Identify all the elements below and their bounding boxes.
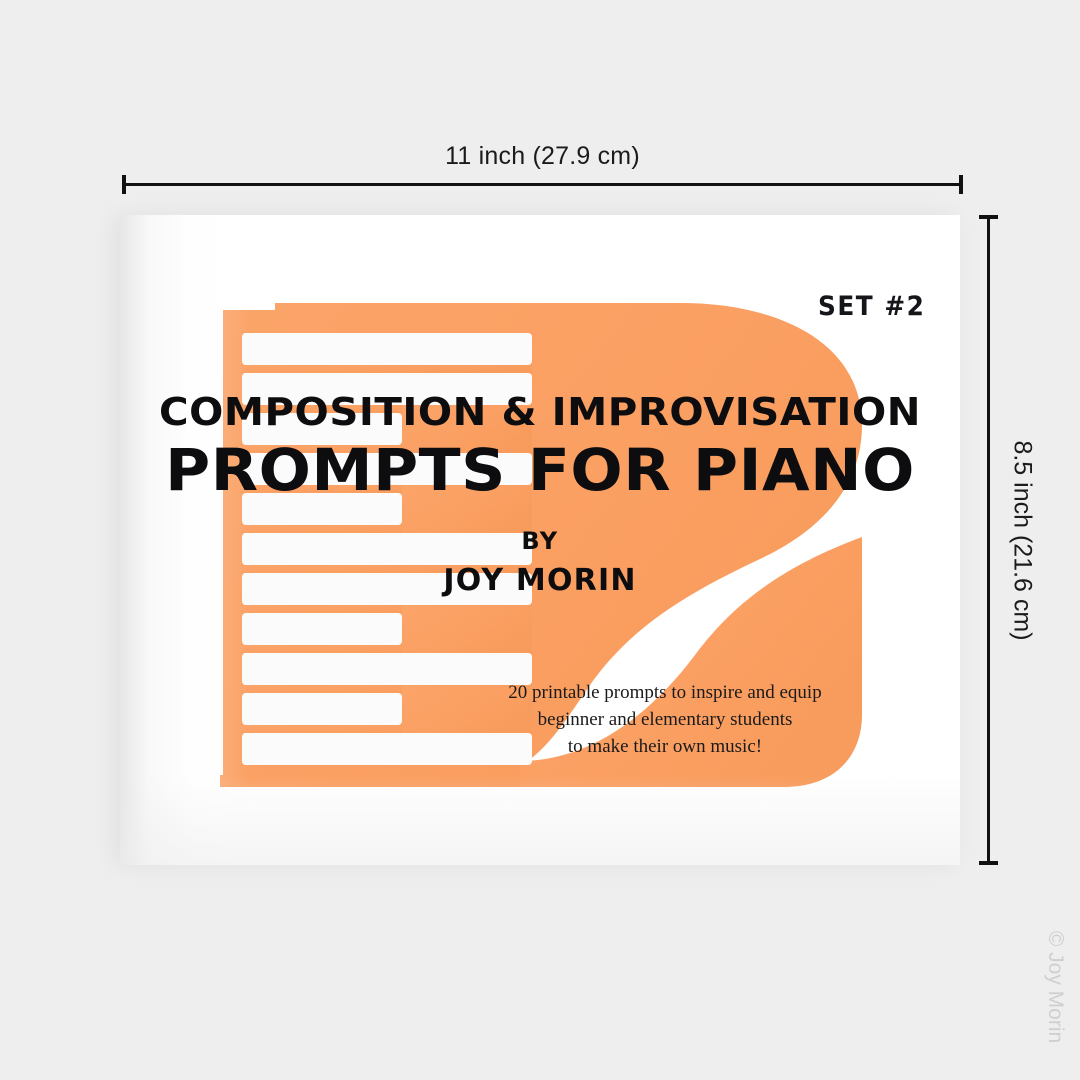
cover-text-layer: SET #2 COMPOSITION & IMPROVISATION PROMP… (120, 215, 960, 865)
byline-author-name: JOY MORIN (120, 563, 960, 598)
copyright-watermark: © Joy Morin (1038, 912, 1072, 1062)
byline-by-label: BY (120, 527, 960, 555)
height-dimension-text: 8.5 inch (21.6 cm) (1008, 440, 1037, 640)
book-cover-card: SET #2 COMPOSITION & IMPROVISATION PROMP… (120, 215, 960, 865)
copyright-watermark-text: © Joy Morin (1043, 931, 1067, 1043)
cover-title-block: COMPOSITION & IMPROVISATION PROMPTS FOR … (120, 393, 960, 503)
height-dimension-cap-bottom (979, 861, 998, 865)
cover-title-main: PROMPTS FOR PIANO (120, 439, 960, 503)
width-dimension-label: 11 inch (27.9 cm) (122, 142, 963, 171)
width-dimension-cap-right (959, 175, 963, 194)
height-dimension-label: 8.5 inch (21.6 cm) (1002, 216, 1042, 864)
width-dimension-cap-left (122, 175, 126, 194)
page-background: 11 inch (27.9 cm) 8.5 inch (21.6 cm) (0, 0, 1080, 1080)
height-dimension-line (987, 216, 990, 864)
height-dimension-cap-top (979, 215, 998, 219)
cover-blurb-line-2: beginner and elementary students (500, 707, 830, 734)
cover-blurb-line-3: to make their own music! (500, 734, 830, 761)
width-dimension-line (122, 183, 963, 186)
cover-title-subtitle: COMPOSITION & IMPROVISATION (120, 393, 960, 433)
set-badge: SET #2 (818, 291, 925, 322)
cover-blurb-line-1: 20 printable prompts to inspire and equi… (500, 680, 830, 707)
cover-blurb: 20 printable prompts to inspire and equi… (500, 680, 830, 761)
cover-byline: BY JOY MORIN (120, 527, 960, 598)
